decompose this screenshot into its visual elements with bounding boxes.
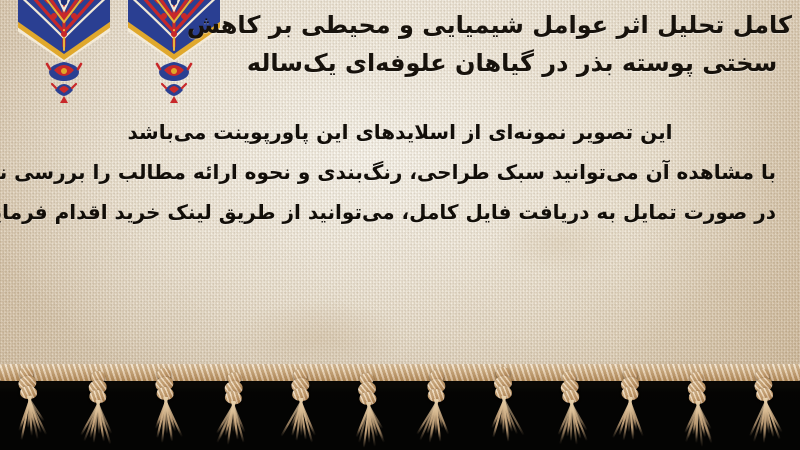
slide-canvas: کامل تحلیل اثر عوامل شیمیایی و محیطی بر …: [0, 0, 800, 450]
tassel-threads: [686, 401, 710, 447]
tassel-threads: [753, 397, 780, 445]
body-line-3: در صورت تمایل به دریافت فایل کامل، می‌تو…: [24, 192, 776, 232]
tassel-threads: [617, 396, 642, 443]
title-line-2: سختی پوسته بذر در گیاهان علوفه‌ای یک‌سال…: [232, 44, 792, 82]
tassel-threads: [218, 400, 245, 448]
body-line-2: با مشاهده آن می‌توانید سبک طراحی، رنگ‌بن…: [24, 152, 776, 192]
tassel-threads: [559, 399, 585, 446]
title-line-1: کامل تحلیل اثر عوامل شیمیایی و محیطی بر …: [232, 6, 792, 44]
slide-body: این تصویر نمونه‌ای از اسلایدهای این پاور…: [24, 112, 776, 232]
tassel-threads: [492, 396, 515, 442]
tassel-threads: [153, 397, 177, 444]
tassel-threads: [288, 398, 312, 444]
slide-title: کامل تحلیل اثر عوامل شیمیایی و محیطی بر …: [232, 6, 792, 82]
tassel-threads: [356, 401, 381, 448]
tassel-threads: [422, 398, 448, 445]
tassel-threads: [18, 395, 45, 443]
body-line-1: این تصویر نمونه‌ای از اسلایدهای این پاور…: [24, 112, 776, 152]
text-layer: کامل تحلیل اثر عوامل شیمیایی و محیطی بر …: [0, 0, 800, 392]
tassel-threads: [85, 400, 109, 447]
